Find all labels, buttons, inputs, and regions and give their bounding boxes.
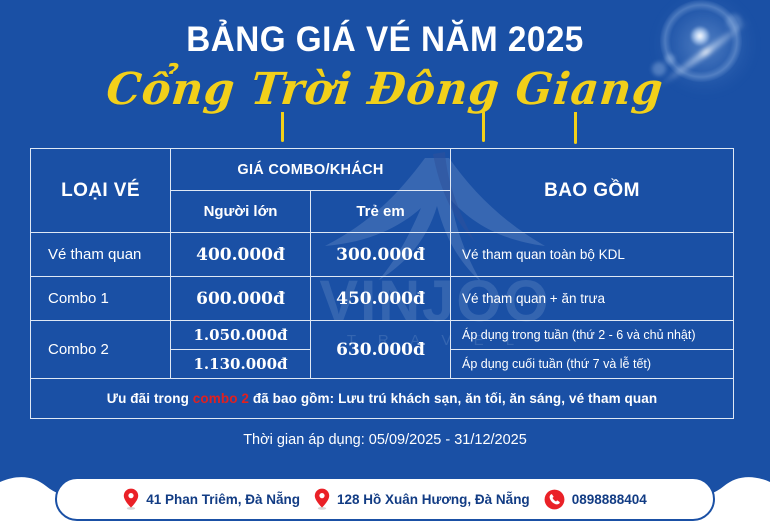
row-type: Vé tham quan <box>31 233 171 277</box>
paint-drip-decoration <box>574 112 577 144</box>
brand-script-title: Cổng Trời Đông Giang <box>5 64 765 115</box>
validity-period: Thời gian áp dụng: 05/09/2025 - 31/12/20… <box>0 432 770 448</box>
table-header-row: LOẠI VÉ GIÁ COMBO/KHÁCH BAO GỒM <box>31 149 734 191</box>
table-row: Vé tham quan 400.000đ 300.000đ Vé tham q… <box>31 233 734 277</box>
row-adult-price: 1.050.000đ <box>171 321 311 350</box>
header-adult: Người lớn <box>171 191 311 233</box>
location-pin-icon <box>314 488 330 510</box>
header-ticket-type: LOẠI VÉ <box>31 149 171 233</box>
row-includes: Vé tham quan toàn bộ KDL <box>451 233 734 277</box>
table-row: Combo 2 1.050.000đ 630.000đ Áp dụng tron… <box>31 321 734 350</box>
address-2-item[interactable]: 128 Hồ Xuân Hương, Đà Nẵng <box>314 488 530 510</box>
row-type: Combo 1 <box>31 277 171 321</box>
address-1-text: 41 Phan Triêm, Đà Nẵng <box>146 492 300 507</box>
location-pin-icon <box>123 488 139 510</box>
row-child-price: 630.000đ <box>311 321 451 379</box>
phone-icon <box>544 489 565 510</box>
contact-bar: 41 Phan Triêm, Đà Nẵng 128 Hồ Xuân Hương… <box>55 477 715 521</box>
row-includes: Áp dụng trong tuần (thứ 2 - 6 và chủ nhậ… <box>451 321 734 350</box>
row-includes: Vé tham quan + ăn trưa <box>451 277 734 321</box>
paint-drip-decoration <box>281 112 284 142</box>
row-child-price: 300.000đ <box>311 233 451 277</box>
page-title: BẢNG GIÁ VÉ NĂM 2025 <box>19 20 751 60</box>
row-adult-price: 1.130.000đ <box>171 350 311 379</box>
promo-prefix: Ưu đãi trong <box>107 391 193 406</box>
paint-drip-decoration <box>482 112 485 142</box>
phone-text: 0898888404 <box>572 492 647 507</box>
header-includes: BAO GỒM <box>451 149 734 233</box>
poster-header: BẢNG GIÁ VÉ NĂM 2025 Cổng Trời Đông Gian… <box>0 0 770 115</box>
price-table: LOẠI VÉ GIÁ COMBO/KHÁCH BAO GỒM Người lớ… <box>30 148 734 419</box>
row-child-price: 450.000đ <box>311 277 451 321</box>
row-adult-price: 600.000đ <box>171 277 311 321</box>
promo-highlight: combo 2 <box>193 391 249 406</box>
row-type: Combo 2 <box>31 321 171 379</box>
row-adult-price: 400.000đ <box>171 233 311 277</box>
address-1-item[interactable]: 41 Phan Triêm, Đà Nẵng <box>123 488 300 510</box>
header-child: Trẻ em <box>311 191 451 233</box>
promo-note: Ưu đãi trong combo 2 đã bao gồm: Lưu trú… <box>31 379 734 419</box>
promo-suffix: đã bao gồm: Lưu trú khách sạn, ăn tối, ă… <box>249 391 657 406</box>
header-combo-group: GIÁ COMBO/KHÁCH <box>171 149 451 191</box>
row-includes: Áp dụng cuối tuần (thứ 7 và lễ tết) <box>451 350 734 379</box>
table-row: Combo 1 600.000đ 450.000đ Vé tham quan +… <box>31 277 734 321</box>
phone-item[interactable]: 0898888404 <box>544 489 647 510</box>
promo-row: Ưu đãi trong combo 2 đã bao gồm: Lưu trú… <box>31 379 734 419</box>
address-2-text: 128 Hồ Xuân Hương, Đà Nẵng <box>337 492 530 507</box>
